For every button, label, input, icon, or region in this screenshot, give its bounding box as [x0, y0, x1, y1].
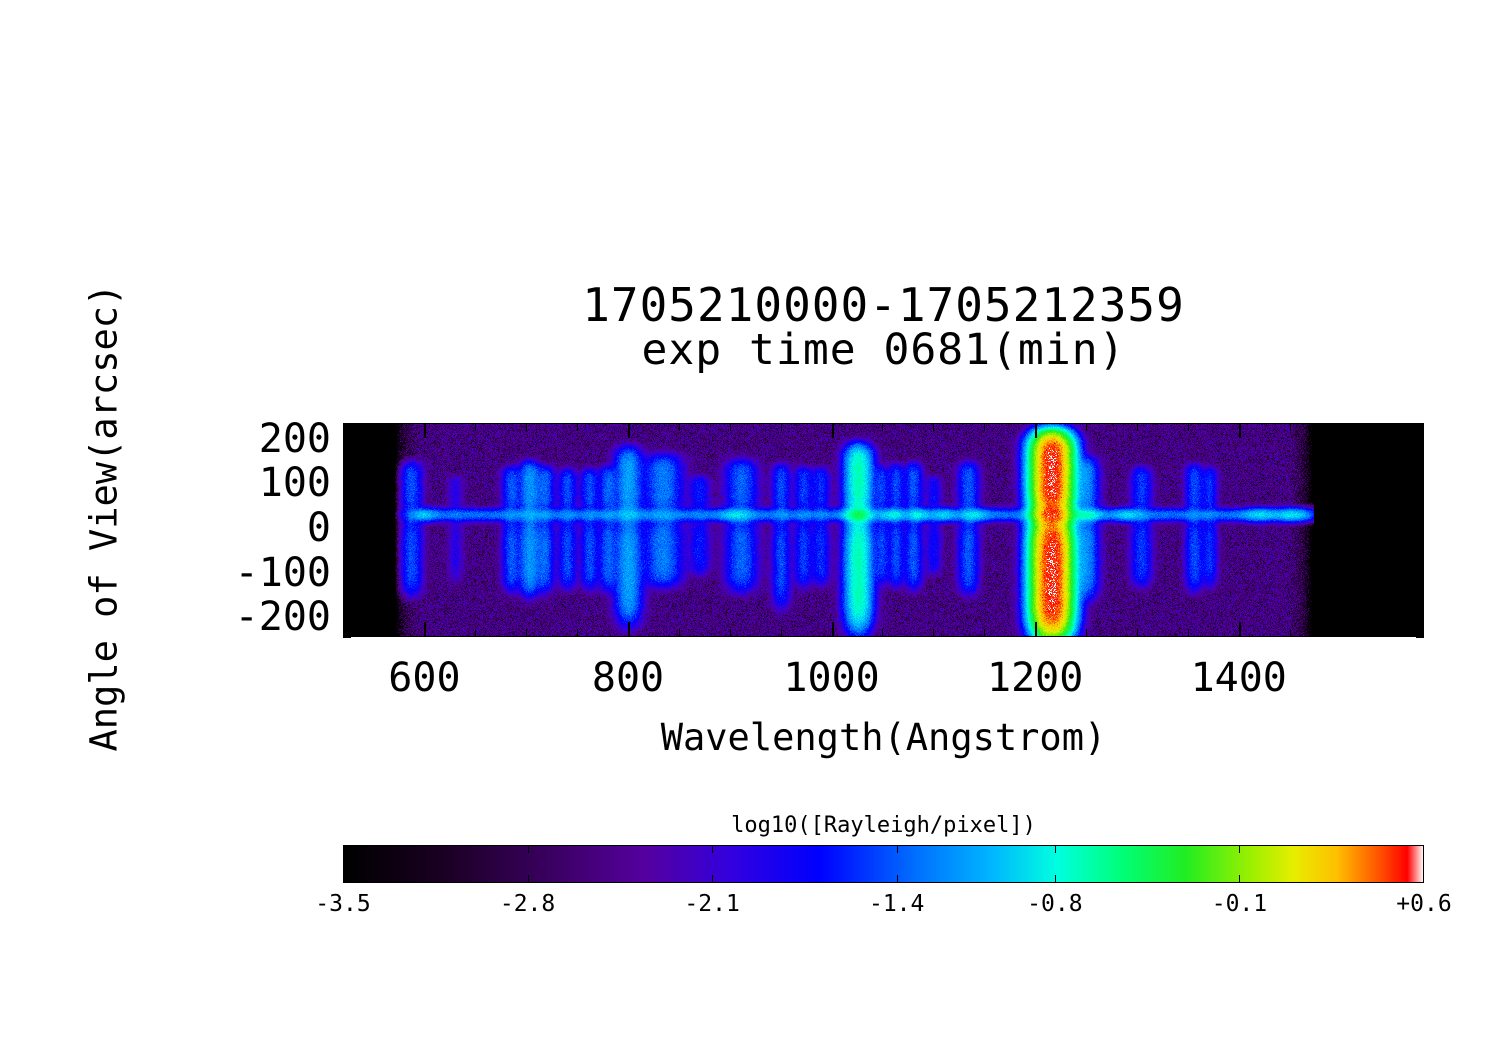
y-minor-tick	[343, 539, 351, 540]
x-minor-tick-top	[1341, 423, 1342, 431]
colorbar-tick-label: -0.8	[985, 891, 1125, 917]
y-major-tick-right	[1409, 485, 1424, 487]
x-minor-tick	[781, 629, 782, 637]
y-minor-tick	[343, 601, 351, 602]
x-minor-tick	[1391, 629, 1392, 637]
y-minor-tick-right	[1416, 601, 1424, 602]
y-minor-tick-right	[1416, 637, 1424, 638]
x-major-tick-top	[832, 423, 834, 438]
y-minor-tick	[343, 503, 351, 504]
x-minor-tick-top	[1391, 423, 1392, 431]
y-minor-tick-right	[1416, 566, 1424, 567]
x-minor-tick-top	[882, 423, 883, 431]
colorbar-tick-label: -3.5	[273, 891, 413, 917]
colorbar-tick	[712, 845, 713, 853]
colorbar-tick	[897, 845, 898, 853]
y-minor-tick-right	[1416, 557, 1424, 558]
y-minor-tick	[343, 432, 351, 433]
y-minor-tick	[343, 512, 351, 513]
y-minor-tick	[343, 584, 351, 585]
x-minor-tick-top	[730, 423, 731, 431]
x-minor-tick-top	[1188, 423, 1189, 431]
x-tick-label: 1000	[752, 655, 912, 701]
x-major-tick-top	[628, 423, 630, 438]
y-minor-tick	[343, 637, 351, 638]
x-major-tick	[424, 622, 426, 637]
x-minor-tick	[526, 629, 527, 637]
x-minor-tick	[730, 629, 731, 637]
y-tick-label: 100	[113, 460, 331, 506]
spectrogram-canvas	[343, 423, 1424, 637]
x-tick-label: 1400	[1159, 655, 1319, 701]
x-minor-tick-top	[526, 423, 527, 431]
y-minor-tick-right	[1416, 459, 1424, 460]
colorbar-title: log10([Rayleigh/pixel])	[343, 813, 1424, 838]
y-minor-tick-right	[1416, 503, 1424, 504]
colorbar-tick-label: -2.8	[458, 891, 598, 917]
y-major-tick	[343, 619, 358, 621]
x-minor-tick-top	[1137, 423, 1138, 431]
y-minor-tick-right	[1416, 468, 1424, 469]
y-minor-tick-right	[1416, 477, 1424, 478]
y-minor-tick	[343, 450, 351, 451]
y-minor-tick-right	[1416, 494, 1424, 495]
y-minor-tick-right	[1416, 450, 1424, 451]
x-major-tick	[1035, 622, 1037, 637]
x-tick-label: 600	[344, 655, 504, 701]
x-minor-tick-top	[933, 423, 934, 431]
y-minor-tick-right	[1416, 628, 1424, 629]
x-major-tick	[832, 622, 834, 637]
x-minor-tick-top	[475, 423, 476, 431]
x-minor-tick-top	[679, 423, 680, 431]
title-line-2: exp time 0681(min)	[343, 329, 1424, 373]
y-major-tick	[343, 575, 358, 577]
colorbar-tick	[528, 875, 529, 883]
x-axis-label: Wavelength(Angstrom)	[343, 716, 1424, 759]
x-major-tick-top	[1035, 423, 1037, 438]
colorbar-tick	[897, 875, 898, 883]
y-tick-label: 0	[113, 505, 331, 551]
spectrogram-image	[343, 423, 1424, 637]
x-minor-tick-top	[1086, 423, 1087, 431]
y-major-tick	[343, 485, 358, 487]
title-line-1: 1705210000-1705212359	[343, 282, 1424, 329]
x-minor-tick-top	[577, 423, 578, 431]
y-tick-label: -200	[113, 594, 331, 640]
x-minor-tick-top	[374, 423, 375, 431]
colorbar-tick-label: -1.4	[827, 891, 967, 917]
y-minor-tick-right	[1416, 512, 1424, 513]
y-minor-tick-right	[1416, 521, 1424, 522]
colorbar-tick-label: -2.1	[642, 891, 782, 917]
x-minor-tick	[679, 629, 680, 637]
y-minor-tick-right	[1416, 592, 1424, 593]
colorbar-tick	[1239, 845, 1240, 853]
x-major-tick	[1239, 622, 1241, 637]
y-minor-tick-right	[1416, 548, 1424, 549]
y-minor-tick	[343, 494, 351, 495]
x-minor-tick	[984, 629, 985, 637]
y-minor-tick-right	[1416, 423, 1424, 424]
colorbar-tick-label: +0.6	[1354, 891, 1494, 917]
colorbar	[343, 845, 1424, 883]
y-major-tick	[343, 530, 358, 532]
y-minor-tick	[343, 566, 351, 567]
y-minor-tick	[343, 468, 351, 469]
colorbar-canvas	[343, 845, 1424, 883]
y-minor-tick	[343, 548, 351, 549]
x-minor-tick	[1341, 629, 1342, 637]
colorbar-tick	[712, 875, 713, 883]
spectrogram-figure: 1705210000-1705212359 exp time 0681(min)…	[0, 0, 1497, 1058]
x-minor-tick	[1188, 629, 1189, 637]
y-minor-tick	[343, 459, 351, 460]
x-minor-tick-top	[1290, 423, 1291, 431]
y-minor-tick	[343, 477, 351, 478]
y-minor-tick	[343, 610, 351, 611]
x-major-tick	[628, 622, 630, 637]
x-minor-tick	[1290, 629, 1291, 637]
x-tick-label: 1200	[955, 655, 1115, 701]
y-minor-tick	[343, 423, 351, 424]
colorbar-tick	[1239, 875, 1240, 883]
y-major-tick-right	[1409, 441, 1424, 443]
y-tick-label: 200	[113, 416, 331, 462]
y-major-tick-right	[1409, 575, 1424, 577]
x-minor-tick-top	[984, 423, 985, 431]
colorbar-tick	[1055, 845, 1056, 853]
y-major-tick-right	[1409, 530, 1424, 532]
x-major-tick-top	[424, 423, 426, 438]
colorbar-tick	[1055, 875, 1056, 883]
y-minor-tick	[343, 592, 351, 593]
y-minor-tick-right	[1416, 610, 1424, 611]
y-minor-tick	[343, 628, 351, 629]
plot-title: 1705210000-1705212359 exp time 0681(min)	[343, 282, 1424, 373]
y-minor-tick	[343, 521, 351, 522]
y-minor-tick-right	[1416, 584, 1424, 585]
y-tick-label: -100	[113, 550, 331, 596]
y-major-tick-right	[1409, 619, 1424, 621]
x-minor-tick	[1137, 629, 1138, 637]
y-minor-tick-right	[1416, 432, 1424, 433]
x-minor-tick	[882, 629, 883, 637]
x-major-tick-top	[1239, 423, 1241, 438]
y-minor-tick	[343, 557, 351, 558]
x-minor-tick	[374, 629, 375, 637]
colorbar-tick	[528, 845, 529, 853]
x-tick-label: 800	[548, 655, 708, 701]
y-major-tick	[343, 441, 358, 443]
x-minor-tick-top	[781, 423, 782, 431]
colorbar-tick-label: -0.1	[1169, 891, 1309, 917]
y-minor-tick-right	[1416, 539, 1424, 540]
x-minor-tick	[1086, 629, 1087, 637]
x-minor-tick	[577, 629, 578, 637]
x-minor-tick	[933, 629, 934, 637]
x-minor-tick	[475, 629, 476, 637]
